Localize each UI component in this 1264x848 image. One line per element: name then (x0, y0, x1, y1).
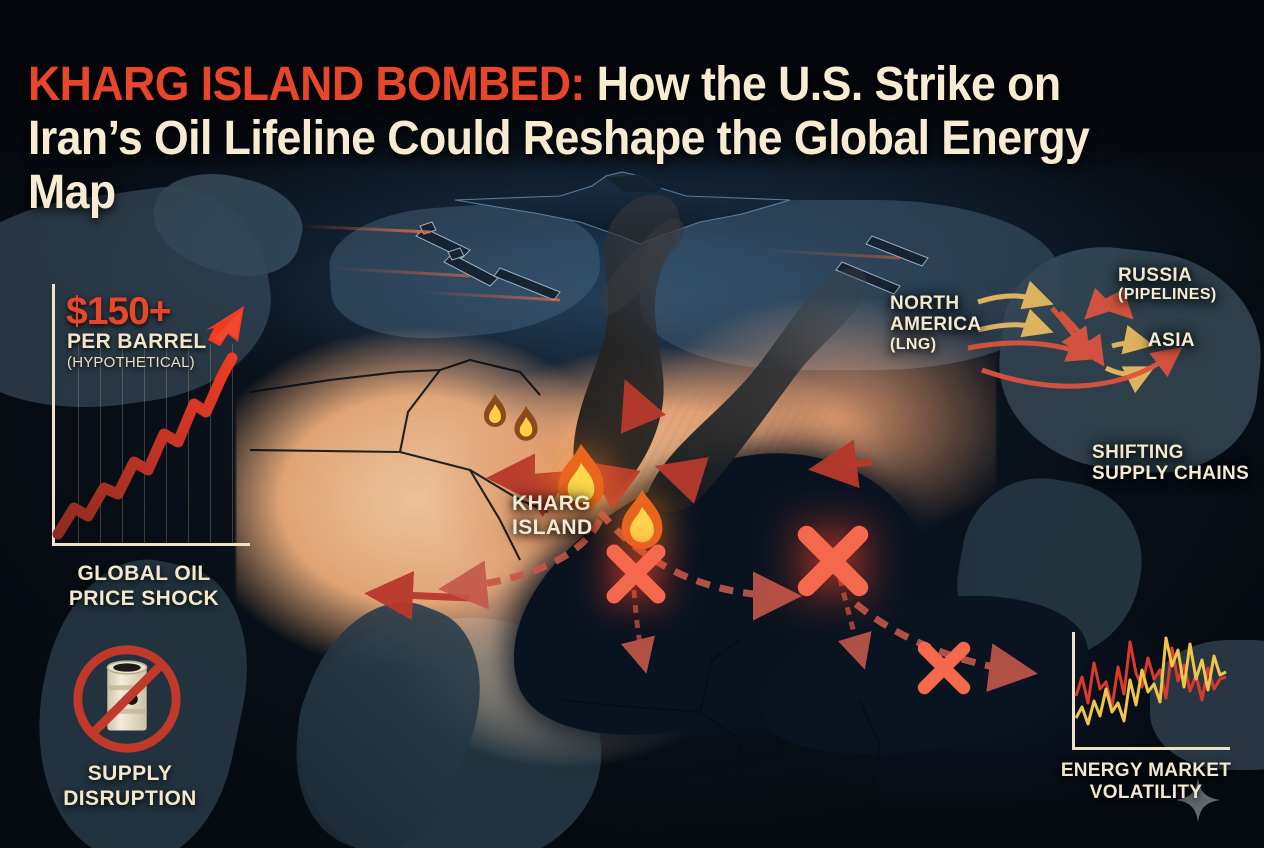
price-hypothetical-note: (HYPOTHETICAL) (67, 354, 195, 371)
no-oil-barrel-icon (68, 640, 186, 758)
asia-label: ASIA (1148, 330, 1195, 351)
global-oil-price-shock-caption: GLOBAL OIL PRICE SHOCK (38, 562, 250, 612)
red-x-blockade-icon (600, 538, 672, 610)
north-america-lng-label: NORTH AMERICA (LNG) (890, 293, 981, 353)
price-amount: $150+ (66, 290, 171, 334)
global-oil-price-chart: $150+ PER BARREL (HYPOTHETICAL) (38, 284, 250, 560)
title-highlight: KHARG ISLAND BOMBED: (28, 58, 585, 111)
red-x-blockade-icon (912, 636, 976, 700)
infographic-canvas: KHARG ISLAND NORTH AMERICA (LNG) RUSSIA … (0, 0, 1264, 848)
price-unit-label: PER BARREL (67, 330, 207, 354)
red-x-blockade-icon (790, 518, 876, 604)
page-title: KHARG ISLAND BOMBED: How the U.S. Strike… (28, 58, 1153, 219)
russia-pipelines-label: RUSSIA (PIPELINES) (1118, 265, 1217, 304)
energy-market-volatility-caption: ENERGY MARKET VOLATILITY (1028, 760, 1264, 805)
title-banner: KHARG ISLAND BOMBED: How the U.S. Strike… (0, 0, 1264, 172)
supply-disruption-caption: SUPPLY DISRUPTION (30, 762, 230, 812)
volatility-series (1074, 632, 1232, 750)
kharg-island-label: KHARG ISLAND (512, 492, 593, 539)
energy-market-volatility-chart (1072, 632, 1232, 754)
shifting-supply-chains-label: SHIFTING SUPPLY CHAINS (1092, 442, 1249, 485)
